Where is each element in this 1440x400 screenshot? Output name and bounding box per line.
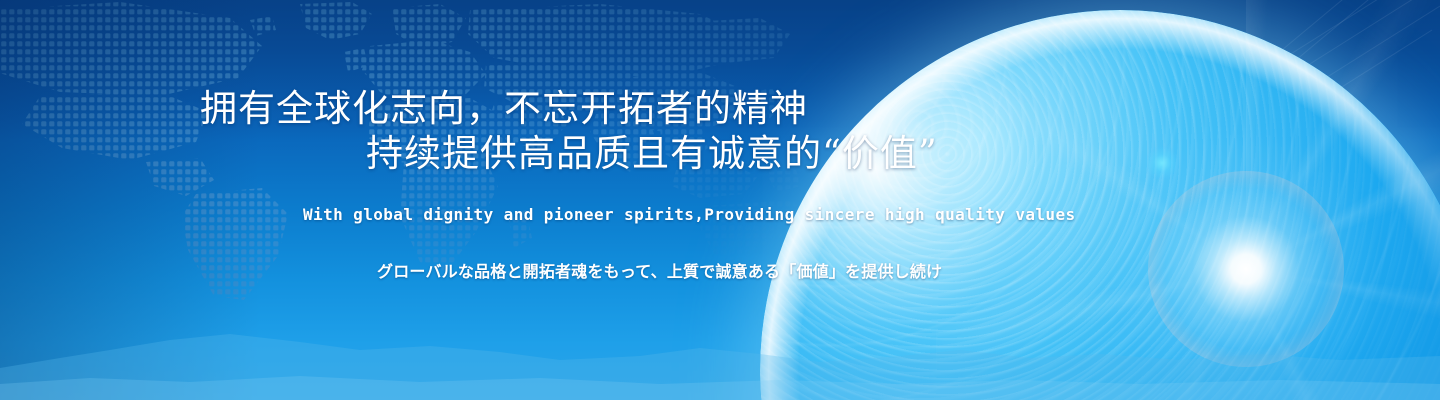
planet-arcs [760, 10, 1440, 400]
page-title: 拥有全球化志向，不忘开拓者的精神 持续提供高品质且有诚意的“价值” [200, 86, 938, 176]
sun-rays [936, 0, 1440, 400]
subtitle-japanese: グローバルな品格と開拓者魂をもって、上質で誠意ある「価値」を提供し続け [377, 258, 942, 282]
planet-rim-highlight [760, 10, 1440, 400]
lens-flare-dot [1145, 146, 1179, 180]
copy-block: 拥有全球化志向，不忘开拓者的精神 持续提供高品质且有诚意的“价值” With g… [0, 0, 1000, 400]
planet-limb [760, 10, 1440, 400]
left-shading [0, 0, 260, 400]
mountain-ridge-silhouette [0, 310, 1440, 400]
headline-line-1: 拥有全球化志向，不忘开拓者的精神 [200, 87, 808, 130]
headline-line-2: 持续提供高品质且有诚意的“价值” [200, 131, 938, 176]
sun-lens-ring [1148, 171, 1344, 367]
hero-banner: 拥有全球化志向，不忘开拓者的精神 持续提供高品质且有诚意的“价值” With g… [0, 0, 1440, 400]
light-rays [920, 0, 1440, 340]
top-shading [0, 0, 1440, 140]
subtitle-english: With global dignity and pioneer spirits,… [303, 205, 1076, 224]
sun-flare [1245, 268, 1247, 270]
dotted-world-map [0, 0, 900, 320]
planet-texture [760, 10, 1440, 400]
sun-glow [1036, 59, 1440, 400]
